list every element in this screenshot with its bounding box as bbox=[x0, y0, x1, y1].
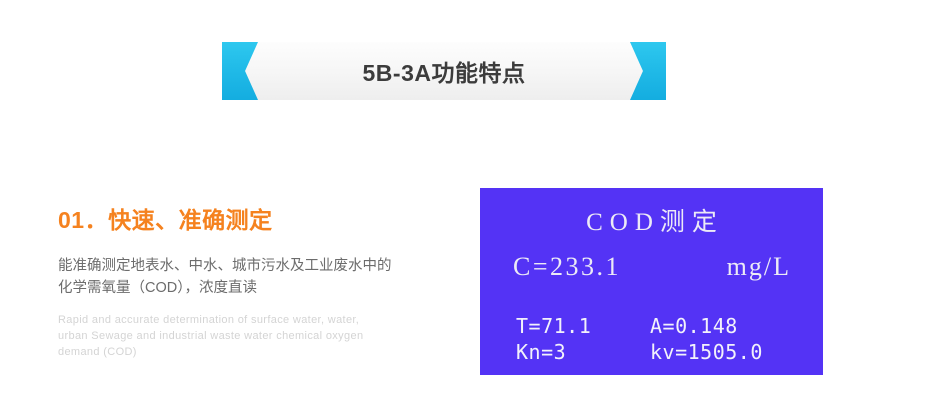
lcd-concentration-value: C=233.1 bbox=[513, 252, 621, 282]
lcd-parameter-row: Kn=3 kv=1505.0 bbox=[516, 339, 816, 365]
lcd-parameter-row: T=71.1 A=0.148 bbox=[516, 313, 816, 339]
lcd-param-kn: Kn=3 bbox=[516, 339, 650, 365]
lcd-concentration-unit: mg/L bbox=[727, 252, 791, 282]
lcd-parameter-grid: T=71.1 A=0.148 Kn=3 kv=1505.0 bbox=[516, 313, 816, 365]
lcd-param-kv: kv=1505.0 bbox=[650, 339, 816, 365]
feature-description-english: Rapid and accurate determination of surf… bbox=[58, 312, 380, 360]
page-title: 5B-3A功能特点 bbox=[222, 42, 666, 100]
lcd-screen-title: COD测定 bbox=[480, 202, 823, 238]
lcd-param-absorbance: A=0.148 bbox=[650, 313, 816, 339]
feature-item-01: 01．快速、准确测定 能准确测定地表水、中水、城市污水及工业废水中的化学需氧量（… bbox=[58, 208, 398, 360]
lcd-param-temperature: T=71.1 bbox=[516, 313, 650, 339]
feature-description-chinese: 能准确测定地表水、中水、城市污水及工业废水中的化学需氧量（COD），浓度直读 bbox=[58, 255, 394, 299]
lcd-concentration-row: C=233.1 mg/L bbox=[513, 252, 803, 282]
lcd-display-panel: COD测定 C=233.1 mg/L T=71.1 A=0.148 Kn=3 k… bbox=[480, 188, 823, 375]
section-banner: 5B-3A功能特点 bbox=[222, 42, 666, 100]
feature-heading: 01．快速、准确测定 bbox=[58, 208, 398, 233]
